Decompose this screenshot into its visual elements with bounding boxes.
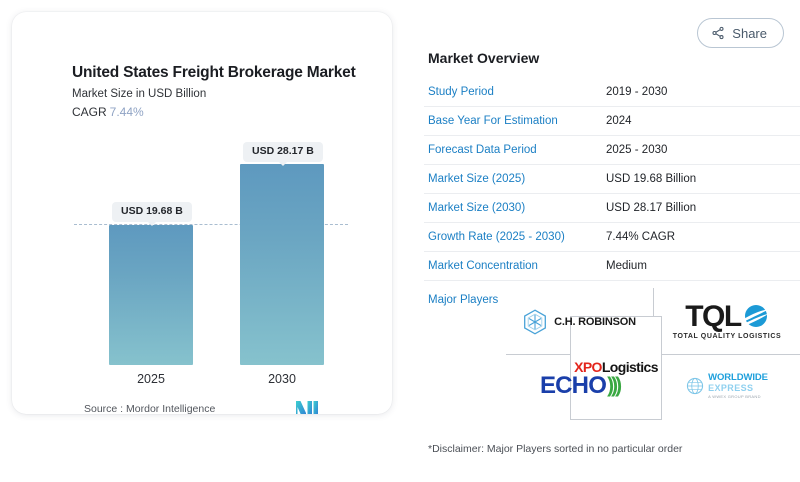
major-players-logo-grid: C.H. ROBINSON TQL TOTAL QUALITY LOGISTIC…: [506, 288, 800, 420]
xpo-wordmark-black: Logistics: [602, 359, 658, 375]
major-players-label: Major Players: [428, 294, 498, 306]
wwe-line2: EXPRESS: [708, 384, 768, 393]
tql-wordmark: TQL: [685, 303, 741, 330]
row-value: 2025 - 2030: [606, 144, 667, 156]
table-row: Growth Rate (2025 - 2030) 7.44% CAGR: [424, 223, 800, 252]
bar-label-2030: USD 28.17 B: [243, 142, 323, 162]
row-value: 2019 - 2030: [606, 86, 667, 98]
player-logo-tql: TQL TOTAL QUALITY LOGISTICS: [654, 292, 800, 350]
ch-robinson-hex-icon: [523, 309, 547, 335]
wwe-line3: A WWEX GROUP BRAND: [708, 395, 768, 399]
globe-icon: [686, 377, 704, 395]
row-value: USD 28.17 Billion: [606, 202, 696, 214]
share-button[interactable]: Share: [697, 18, 784, 48]
row-value: 7.44% CAGR: [606, 231, 675, 243]
page-root: United States Freight Brokerage Market M…: [0, 0, 800, 482]
share-button-label: Share: [732, 26, 767, 41]
wwe-line1: WORLDWIDE: [708, 373, 768, 383]
bar-chart-plot: USD 19.68 B USD 28.17 B 2025 2030: [12, 12, 392, 414]
player-logo-xpo: XPOLogistics: [570, 316, 662, 420]
x-tick-2030: 2030: [240, 372, 324, 386]
bar-2025[interactable]: [109, 225, 193, 365]
table-row: Study Period 2019 - 2030: [424, 78, 800, 107]
bar-label-2025: USD 19.68 B: [112, 202, 192, 222]
tql-tagline: TOTAL QUALITY LOGISTICS: [673, 333, 782, 340]
player-logo-worldwide-express: WORLDWIDE EXPRESS A WWEX GROUP BRAND: [654, 360, 800, 412]
row-value: USD 19.68 Billion: [606, 173, 696, 185]
row-key: Growth Rate (2025 - 2030): [428, 231, 606, 243]
row-key: Market Concentration: [428, 260, 606, 272]
table-row: Forecast Data Period 2025 - 2030: [424, 136, 800, 165]
source-label: Source : Mordor Intelligence: [84, 403, 215, 414]
row-key: Base Year For Estimation: [428, 115, 606, 127]
market-overview-table: Study Period 2019 - 2030 Base Year For E…: [424, 78, 800, 281]
xpo-wordmark-red: XPO: [574, 359, 602, 375]
bar-2030[interactable]: [240, 164, 324, 365]
market-overview-panel: Share Market Overview Study Period 2019 …: [416, 0, 800, 482]
row-key: Forecast Data Period: [428, 144, 606, 156]
mordor-intelligence-logo: [295, 400, 319, 414]
row-value: Medium: [606, 260, 647, 272]
chart-card: United States Freight Brokerage Market M…: [12, 12, 392, 414]
table-row: Market Concentration Medium: [424, 252, 800, 281]
row-value: 2024: [606, 115, 632, 127]
row-key: Market Size (2030): [428, 202, 606, 214]
disclaimer-text: *Disclaimer: Major Players sorted in no …: [428, 443, 682, 455]
table-row: Market Size (2030) USD 28.17 Billion: [424, 194, 800, 223]
table-row: Market Size (2025) USD 19.68 Billion: [424, 165, 800, 194]
tql-swoosh-icon: [743, 303, 769, 329]
row-key: Study Period: [428, 86, 606, 98]
row-key: Market Size (2025): [428, 173, 606, 185]
share-nodes-icon: [711, 26, 725, 40]
page-title: Market Overview: [428, 50, 539, 66]
table-row: Base Year For Estimation 2024: [424, 107, 800, 136]
x-tick-2025: 2025: [109, 372, 193, 386]
